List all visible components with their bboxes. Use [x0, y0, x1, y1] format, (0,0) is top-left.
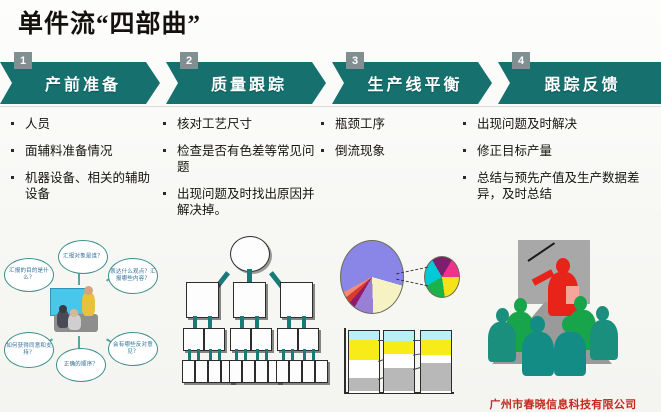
speech-bubble-text: 正确的顺序？	[57, 362, 105, 369]
stack-column	[420, 330, 452, 394]
stack-segment-yellow	[349, 340, 379, 360]
tree-node	[298, 328, 319, 351]
speech-bubble: 汇报的目的是什么？	[4, 258, 54, 292]
speech-bubble: 会有哪些反对意见？	[108, 332, 158, 366]
stack-segment-cyan	[384, 331, 414, 341]
hierarchy-tree-diagram	[168, 236, 330, 406]
stack-segment-gray	[349, 378, 379, 391]
tree-node	[182, 360, 195, 383]
bullet-column-4: 出现问题及时解决 修正目标产量 总结与预先产值及生产数据差异，及时总结	[460, 116, 656, 213]
audience-head	[596, 306, 609, 321]
presenter-head	[84, 286, 93, 295]
process-steps-band: 产前准备 质量跟踪 生产线平衡 跟踪反馈 1 2 3 4	[0, 62, 661, 104]
audience-head	[496, 308, 509, 323]
stack-segment-yellow	[384, 341, 414, 354]
stack-segment-gray	[384, 368, 414, 391]
list-item: 倒流现象	[318, 143, 458, 159]
tree-node	[315, 360, 328, 383]
list-item: 出现问题及时找出原因并解决掉。	[160, 186, 318, 218]
speech-bubble-text: 会有哪些反对意见？	[109, 342, 157, 356]
presenter-figure	[82, 292, 95, 316]
speech-bubble: 正确的顺序？	[56, 348, 106, 382]
step-label-2: 质量跟踪	[205, 71, 287, 95]
list-item: 人员	[8, 116, 158, 132]
step-label-1: 产前准备	[39, 71, 121, 95]
stack-segment-white	[421, 355, 451, 363]
step-label-3: 生产线平衡	[361, 71, 462, 95]
tree-node	[230, 328, 251, 351]
audience-body	[554, 332, 586, 376]
bullet-column-1: 人员 面辅料准备情况 机器设备、相关的辅助设备	[8, 116, 158, 213]
stack-segment-white	[349, 360, 379, 378]
step-number-badge-3: 3	[346, 52, 364, 69]
detail-pie	[424, 256, 460, 298]
audience-head	[530, 316, 545, 333]
tree-node	[289, 360, 302, 383]
speech-bubble: 表达什么观点？汇报哪些内容？	[108, 258, 158, 294]
speech-bubble: 汇报对象是谁？	[58, 240, 108, 274]
audience-body	[590, 320, 618, 360]
step-number-badge-1: 1	[14, 52, 32, 69]
tree-node	[208, 360, 221, 383]
audience-head	[562, 316, 577, 333]
list-item: 瓶颈工序	[318, 116, 458, 132]
list-item: 出现问题及时解决	[460, 116, 656, 132]
section-divider	[0, 106, 661, 107]
stacked-area-chart	[338, 324, 458, 402]
audience-head	[574, 296, 587, 311]
bullet-column-2: 核对工艺尺寸 检查是否有色差等常见问题 出现问题及时找出原因并解决掉。	[160, 116, 318, 229]
audience-body	[488, 322, 516, 362]
presenter-illustration: 广州市春晓信息科技有限公司	[470, 236, 656, 412]
audience-head	[70, 309, 78, 317]
list-item: 总结与预先产值及生产数据差异，及时总结	[460, 170, 656, 202]
speech-bubble: 如何获得同意和支持？	[4, 332, 54, 368]
stack-segment-cyan	[349, 331, 379, 340]
list-item: 检查是否有色差等常见问题	[160, 143, 318, 175]
audience-body	[522, 332, 554, 376]
bullet-column-3: 瓶颈工序 倒流现象	[318, 116, 458, 170]
list-item: 机器设备、相关的辅助设备	[8, 170, 158, 202]
company-footer: 广州市春晓信息科技有限公司	[470, 396, 656, 412]
tree-node	[195, 360, 208, 383]
stack-column	[383, 330, 415, 394]
main-pie	[340, 240, 404, 314]
speech-bubble-text: 汇报对象是谁？	[59, 254, 107, 261]
step-number-badge-2: 2	[180, 52, 198, 69]
speech-bubble-text: 汇报的目的是什么？	[5, 268, 53, 282]
tree-root-node	[230, 236, 270, 272]
pie-of-pie-chart	[336, 236, 462, 318]
bubble-connector	[78, 272, 80, 285]
tree-node	[302, 360, 315, 383]
list-item: 核对工艺尺寸	[160, 116, 318, 132]
stack-segment-gray	[421, 363, 451, 391]
tree-node	[276, 360, 289, 383]
slide-canvas: 单件流“四部曲” 产前准备 质量跟踪 生产线平衡 跟踪反馈 1 2 3 4 人员…	[0, 0, 661, 412]
step-number-badge-4: 4	[512, 52, 530, 69]
tree-node	[204, 328, 225, 351]
page-title: 单件流“四部曲”	[18, 4, 201, 40]
step-label-4: 跟踪反馈	[538, 71, 620, 95]
speech-bubble-text: 如何获得同意和支持？	[5, 343, 53, 357]
stack-segment-white	[384, 354, 414, 368]
tree-node	[277, 328, 298, 351]
band-connector	[413, 340, 421, 341]
band-connector	[378, 340, 384, 341]
tree-node	[280, 282, 313, 318]
list-item: 修正目标产量	[460, 143, 656, 159]
stack-segment-yellow	[421, 340, 451, 355]
y-axis	[344, 328, 346, 392]
tree-node	[183, 328, 204, 351]
charts-illustration	[336, 236, 462, 408]
stack-segment-cyan	[421, 331, 451, 340]
tree-node	[242, 360, 255, 383]
speech-bubble-text: 表达什么观点？汇报哪些内容？	[109, 269, 157, 283]
tree-node	[251, 328, 272, 351]
stack-column	[348, 330, 380, 394]
tree-node	[229, 360, 242, 383]
brainstorm-illustration: 汇报对象是谁？ 汇报的目的是什么？ 表达什么观点？汇报哪些内容？ 如何获得同意和…	[2, 236, 158, 406]
tree-node	[255, 360, 268, 383]
tree-node	[186, 282, 219, 318]
audience-head	[59, 305, 67, 313]
tree-node	[233, 282, 266, 318]
list-item: 面辅料准备情况	[8, 143, 158, 159]
audience-head	[514, 298, 527, 313]
